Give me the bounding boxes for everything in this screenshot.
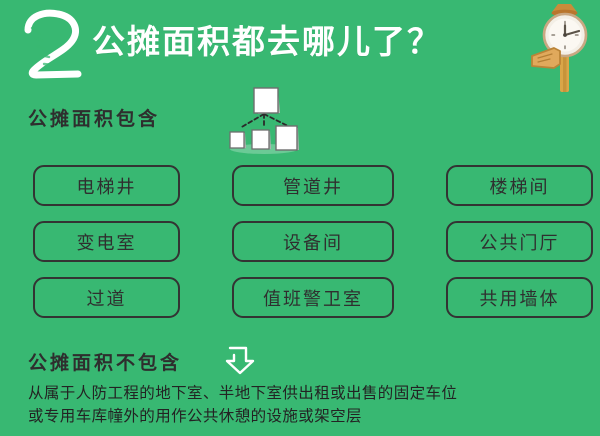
included-item[interactable]: 电梯井	[33, 165, 180, 206]
excluded-description-line: 或专用车库幢外的用作公共休憩的设施或架空层	[28, 405, 580, 428]
included-item[interactable]: 公共门厅	[446, 221, 593, 262]
arrow-down-icon	[224, 344, 258, 376]
included-item[interactable]: 变电室	[33, 221, 180, 262]
title-bar: 公摊面积都去哪儿了？	[0, 0, 600, 92]
included-item[interactable]: 管道井	[232, 165, 394, 206]
excluded-description-line: 从属于人防工程的地下室、半地下室供出租或出售的固定车位	[28, 382, 580, 405]
infographic-page: 公摊面积都去哪儿了？	[0, 0, 600, 436]
included-item[interactable]: 值班警卫室	[232, 277, 394, 318]
included-item[interactable]: 共用墙体	[446, 277, 593, 318]
step-number-icon	[18, 8, 92, 80]
signpost-clock-icon	[524, 2, 596, 94]
included-item[interactable]: 设备间	[232, 221, 394, 262]
section-heading-included: 公摊面积包含	[28, 104, 160, 131]
page-title: 公摊面积都去哪儿了？	[92, 14, 442, 70]
included-item[interactable]: 楼梯间	[446, 165, 593, 206]
section-heading-excluded: 公摊面积不包含	[28, 348, 182, 375]
excluded-description: 从属于人防工程的地下室、半地下室供出租或出售的固定车位 或专用车库幢外的用作公共…	[28, 382, 580, 428]
included-item[interactable]: 过道	[33, 277, 180, 318]
included-items-grid: 电梯井 管道井 楼梯间 变电室 设备间 公共门厅 过道 值班警卫室 共用墙体	[33, 165, 567, 320]
hierarchy-boxes-icon	[218, 86, 304, 158]
